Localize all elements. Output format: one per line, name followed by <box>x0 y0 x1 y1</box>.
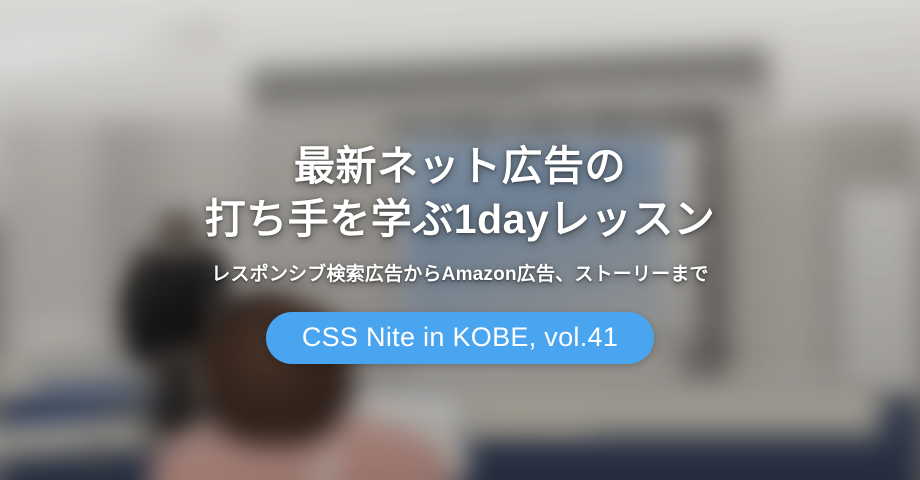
headline-line-2: 打ち手を学ぶ1dayレッスン <box>205 193 715 246</box>
headline-line-1: 最新ネット広告の <box>294 143 626 189</box>
page-title: 最新ネット広告の 打ち手を学ぶ1dayレッスン <box>205 140 715 247</box>
subtitle: レスポンシブ検索広告からAmazon広告、ストーリーまで <box>211 259 709 286</box>
event-badge[interactable]: CSS Nite in KOBE, vol.41 <box>266 312 654 364</box>
banner-content: 最新ネット広告の 打ち手を学ぶ1dayレッスン レスポンシブ検索広告からAmaz… <box>0 0 920 480</box>
event-banner: 最新ネット広告の 打ち手を学ぶ1dayレッスン レスポンシブ検索広告からAmaz… <box>0 0 920 480</box>
